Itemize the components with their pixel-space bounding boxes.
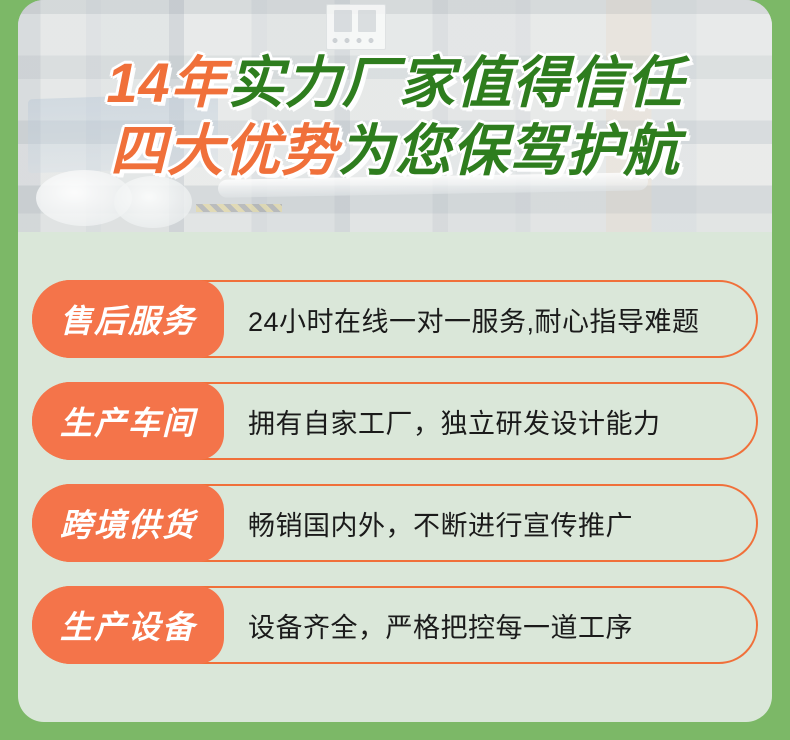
feature-row-equipment[interactable]: 生产设备 设备齐全，严格把控每一道工序 (32, 586, 758, 664)
feature-list: 售后服务 24小时在线一对一服务,耐心指导难题 生产车间 拥有自家工厂，独立研发… (32, 280, 758, 688)
feature-row-workshop[interactable]: 生产车间 拥有自家工厂，独立研发设计能力 (32, 382, 758, 460)
feature-badge-cross-border: 跨境供货 (32, 484, 224, 562)
feature-badge-workshop: 生产车间 (32, 382, 224, 460)
hero-banner: 14年实力厂家值得信任 四大优势为您保驾护航 (18, 0, 772, 232)
content-card: 14年实力厂家值得信任 四大优势为您保驾护航 售后服务 24小时在线一对一服务,… (18, 0, 772, 722)
feature-badge-equipment: 生产设备 (32, 586, 224, 664)
photo-white-overlay (18, 0, 772, 232)
feature-row-after-sales[interactable]: 售后服务 24小时在线一对一服务,耐心指导难题 (32, 280, 758, 358)
feature-badge-after-sales: 售后服务 (32, 280, 224, 358)
feature-text-cross-border: 畅销国内外，不断进行宣传推广 (248, 504, 633, 543)
feature-text-after-sales: 24小时在线一对一服务,耐心指导难题 (248, 300, 700, 339)
promo-banner-page: 14年实力厂家值得信任 四大优势为您保驾护航 售后服务 24小时在线一对一服务,… (0, 0, 790, 740)
feature-row-cross-border[interactable]: 跨境供货 畅销国内外，不断进行宣传推广 (32, 484, 758, 562)
feature-text-workshop: 拥有自家工厂，独立研发设计能力 (248, 402, 661, 441)
feature-text-equipment: 设备齐全，严格把控每一道工序 (248, 606, 633, 645)
